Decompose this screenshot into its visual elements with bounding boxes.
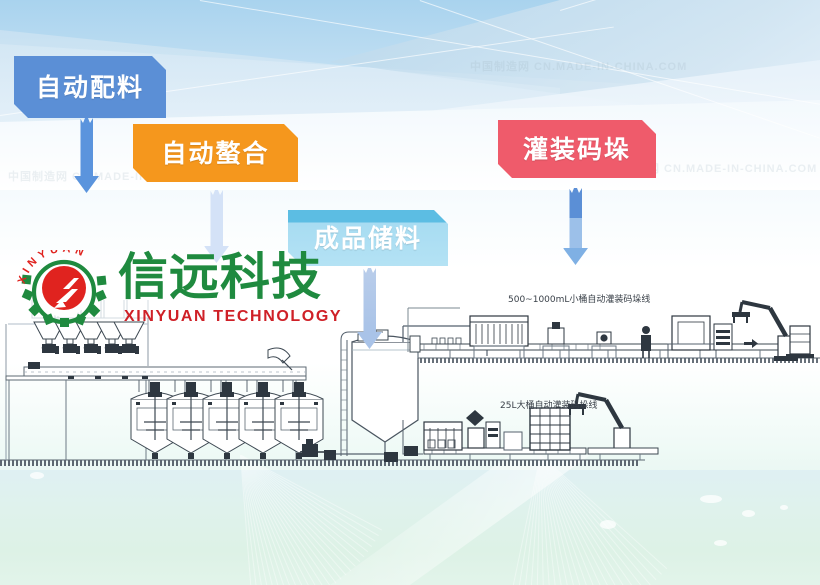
background-bubble	[742, 510, 755, 517]
background-bubble	[600, 520, 616, 529]
logo-name-en: XINYUAN TECHNOLOGY	[124, 308, 342, 326]
arrow-shaft	[569, 188, 582, 248]
banner-finished-storage-label: 成品储料	[314, 226, 422, 251]
arrow-shaft	[363, 268, 376, 332]
banner-auto-batching-label: 自动配料	[36, 75, 144, 100]
arrow-head	[563, 248, 588, 265]
arrow-head	[74, 176, 99, 193]
logo-gear-icon: XINYUAN	[14, 250, 114, 328]
banner-filling-palletizing[interactable]: 灌装码垛	[498, 120, 656, 178]
flow-diagram-canvas: 中国制造网 CN.MADE-IN-CHINA.COM 中国制造网 CN.MADE…	[0, 0, 820, 585]
logo-name-cn: 信远科技	[118, 250, 322, 304]
watermark-text: 中国制造网 CN.MADE-IN-CHINA.COM	[470, 58, 687, 74]
banner-filling-palletizing-label: 灌装码垛	[523, 137, 631, 162]
arrow-shaft	[80, 118, 93, 176]
upper-filling-line	[408, 302, 814, 361]
label-large-drum-line: 25L大桶自动灌装码垛线	[500, 398, 597, 411]
background-bubble	[714, 540, 727, 546]
label-small-drum-line: 500~1000mL小桶自动灌装码垛线	[508, 292, 650, 305]
flow-arrow-storage-to-plant	[357, 268, 382, 350]
banner-auto-chelation-label: 自动螯合	[161, 141, 269, 166]
logo-gear-svg: XINYUAN	[14, 250, 114, 328]
banner-auto-batching[interactable]: 自动配料	[14, 56, 166, 118]
background-bubble	[700, 495, 722, 503]
reactor-section	[131, 380, 324, 459]
company-logo[interactable]: XINYUAN 信远科技 XINYUAN TECHNOLOGY	[10, 248, 310, 330]
banner-auto-chelation[interactable]: 自动螯合	[133, 124, 298, 182]
arrow-shaft	[210, 190, 223, 246]
arrow-head	[357, 332, 382, 349]
background-bubble	[780, 505, 788, 510]
flow-arrow-filling-to-plant	[563, 188, 588, 266]
flow-arrow-batching-to-plant	[74, 118, 99, 193]
